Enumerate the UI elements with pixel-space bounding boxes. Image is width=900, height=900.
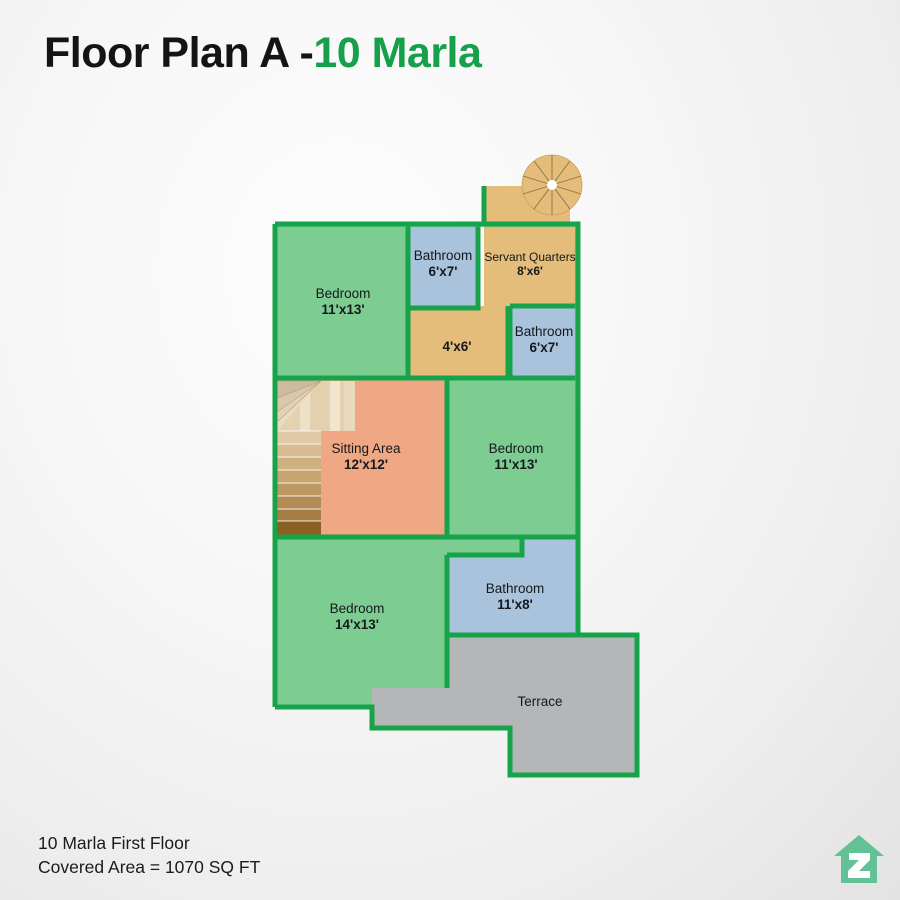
zameen-house-logo[interactable] bbox=[832, 832, 886, 886]
room-bedroom-bottom-left bbox=[275, 537, 447, 707]
floor-plan-drawing bbox=[0, 0, 900, 900]
room-bedroom-middle-right bbox=[447, 380, 578, 555]
footer-line-2: Covered Area = 1070 SQ FT bbox=[38, 856, 260, 880]
footer-caption: 10 Marla First Floor Covered Area = 1070… bbox=[38, 832, 260, 879]
room-bathroom-upper-right bbox=[510, 308, 578, 378]
footer-line-1: 10 Marla First Floor bbox=[38, 832, 260, 856]
room-bedroom-top-left bbox=[275, 224, 408, 378]
room-bathroom-top bbox=[408, 226, 478, 308]
floor-plan-page: Floor Plan A -10 Marla bbox=[0, 0, 900, 900]
spiral-staircase bbox=[522, 155, 582, 215]
